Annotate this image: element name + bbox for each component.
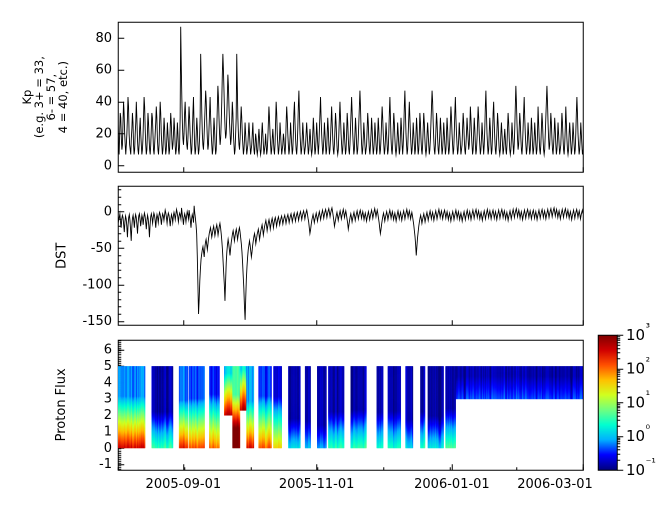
figure-root: Kp(e.g. 3+ = 33,6- = 57,4 = 40, etc.) DS… [0,0,665,523]
plot-canvas [0,0,665,523]
